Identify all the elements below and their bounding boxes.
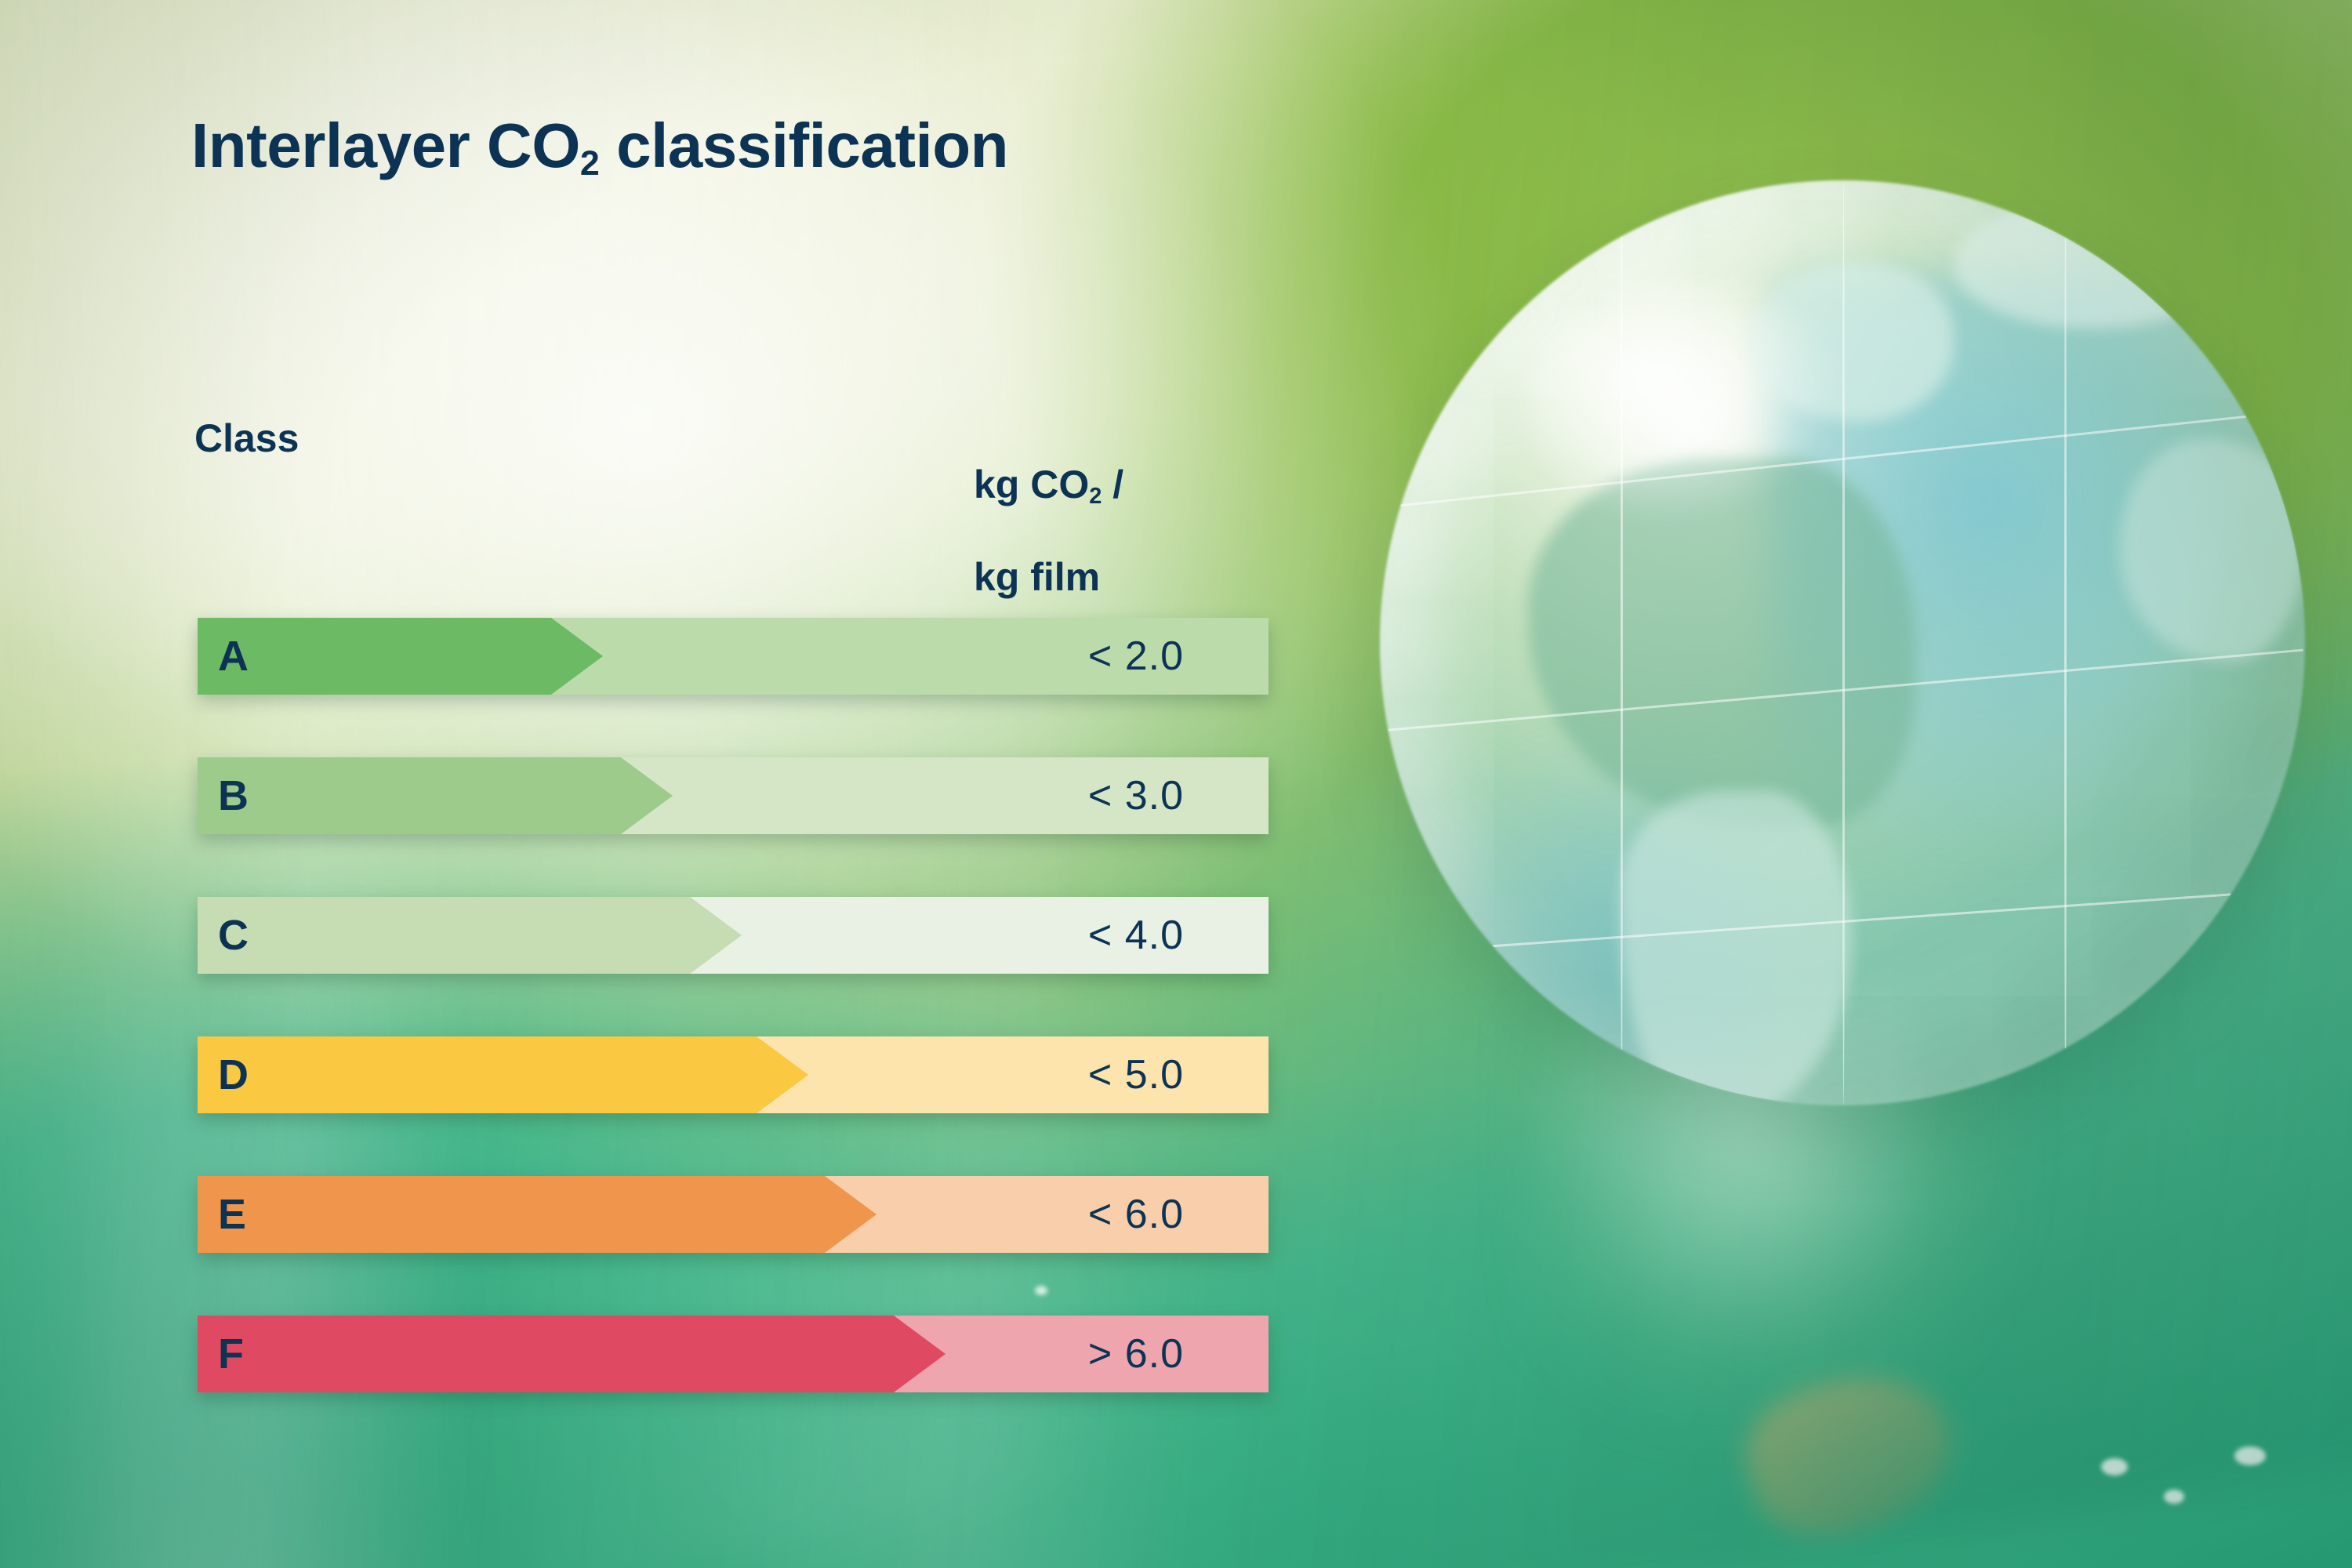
- class-bar-row-c[interactable]: C< 4.0: [198, 897, 1269, 974]
- bar-class-label: B: [218, 775, 249, 817]
- bar-arrow-fill: [198, 1036, 808, 1113]
- infographic-canvas: Interlayer CO2 classification Class kg C…: [0, 0, 2352, 1568]
- bar-arrow-fill: [198, 618, 603, 695]
- bar-class-label: C: [218, 914, 249, 956]
- column-header-unit-line2: kg film: [974, 554, 1123, 601]
- bar-class-label: A: [218, 635, 249, 677]
- bar-arrow-fill: [198, 1176, 877, 1253]
- bar-value-label: < 2.0: [1088, 636, 1184, 677]
- class-bar-row-b[interactable]: B< 3.0: [198, 757, 1269, 834]
- class-bar-row-a[interactable]: A< 2.0: [198, 618, 1269, 695]
- bar-class-label: F: [218, 1333, 244, 1375]
- class-bar-row-f[interactable]: F> 6.0: [198, 1316, 1269, 1392]
- class-bar-row-e[interactable]: E< 6.0: [198, 1176, 1269, 1253]
- unit-subscript: 2: [1089, 484, 1102, 509]
- bar-arrow-fill: [198, 757, 673, 834]
- column-header-unit: kg CO2 / kg film: [974, 416, 1123, 647]
- classification-bar-list: A< 2.0B< 3.0C< 4.0D< 5.0E< 6.0F> 6.0: [198, 618, 1269, 1455]
- column-header-class: Class: [194, 416, 299, 462]
- bar-class-label: E: [218, 1193, 246, 1236]
- page-title: Interlayer CO2 classification: [191, 110, 1008, 182]
- unit-suffix: /: [1102, 463, 1123, 506]
- column-header-unit-line1: kg CO2 /: [974, 462, 1123, 508]
- bar-value-label: < 4.0: [1088, 915, 1184, 956]
- page-title-subscript: 2: [580, 143, 599, 183]
- unit-prefix: kg CO: [974, 463, 1089, 506]
- bar-value-label: > 6.0: [1088, 1334, 1184, 1374]
- page-title-suffix: classification: [599, 111, 1008, 180]
- bar-value-label: < 6.0: [1088, 1194, 1184, 1235]
- bar-value-label: < 5.0: [1088, 1054, 1184, 1095]
- page-title-prefix: Interlayer CO: [191, 111, 580, 180]
- bar-class-label: D: [218, 1054, 249, 1096]
- bar-value-label: < 3.0: [1088, 775, 1184, 816]
- class-bar-row-d[interactable]: D< 5.0: [198, 1036, 1269, 1113]
- bar-arrow-fill: [198, 897, 742, 974]
- bar-arrow-fill: [198, 1316, 946, 1392]
